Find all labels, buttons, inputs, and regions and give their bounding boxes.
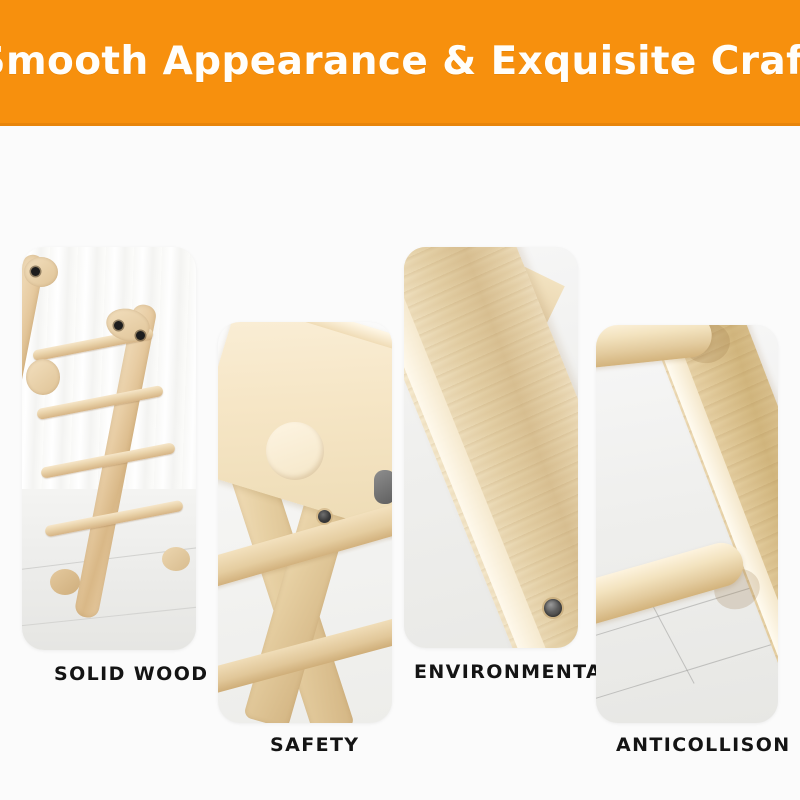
feature-label-safety: SAFETY <box>270 734 359 756</box>
pivot-hub <box>26 359 60 395</box>
photo-safety <box>218 322 392 723</box>
feature-image-environmental <box>404 247 578 648</box>
pivot-bolt <box>31 267 40 276</box>
photo-environmental <box>404 247 578 648</box>
photo-anticollison <box>596 325 778 723</box>
recessed-screw <box>318 510 331 523</box>
feature-label-environmental: ENVIRONMENTAL <box>414 661 616 683</box>
ladder-foot <box>50 569 80 595</box>
feature-label-solid-wood: SOLID WOOD <box>54 663 208 685</box>
rounded-notch <box>266 422 324 480</box>
feature-label-anticollison: ANTICOLLISON <box>616 734 791 756</box>
feature-image-solid-wood <box>22 247 196 650</box>
pivot-bolt <box>114 321 123 330</box>
metal-fastener <box>544 599 562 617</box>
pivot-bolt <box>136 331 145 340</box>
photo-solid-wood <box>22 247 196 650</box>
feature-image-anticollison <box>596 325 778 723</box>
header-banner: Smooth Appearance & Exquisite Craft <box>0 0 800 126</box>
metal-knob <box>374 470 392 504</box>
ladder-foot <box>162 547 190 571</box>
pivot-hub <box>24 257 58 287</box>
feature-image-safety <box>218 322 392 723</box>
page-title: Smooth Appearance & Exquisite Craft <box>0 39 800 84</box>
